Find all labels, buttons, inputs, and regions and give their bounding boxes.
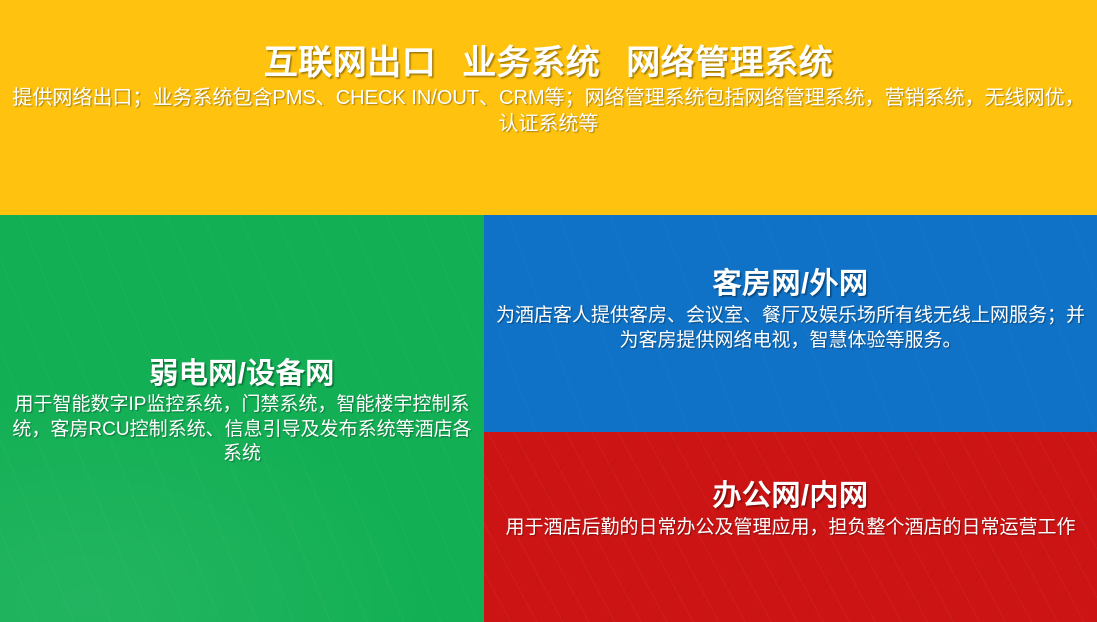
guestroom-network-panel[interactable]: 客房网/外网 为酒店客人提供客房、会议室、餐厅及娱乐场所有线无线上网服务；并为客… xyxy=(484,215,1097,432)
internet-exit-title-part2: 业务系统 xyxy=(462,44,600,82)
weak-current-content: 弱电网/设备网 用于智能数字IP监控系统，门禁系统，智能楼宇控制系统，客房RCU… xyxy=(0,215,484,466)
office-content: 办公网/内网 用于酒店后勤的日常办公及管理应用，担负整个酒店的日常运营工作 xyxy=(484,432,1097,541)
internet-exit-content: 互联网出口业务系统网络管理系统 提供网络出口；业务系统包含PMS、CHECK I… xyxy=(0,0,1097,137)
weak-current-network-panel[interactable]: 弱电网/设备网 用于智能数字IP监控系统，门禁系统，智能楼宇控制系统，客房RCU… xyxy=(0,215,484,622)
internet-exit-title-part3: 网络管理系统 xyxy=(626,44,833,82)
weak-current-title: 弱电网/设备网 xyxy=(4,358,480,390)
office-description: 用于酒店后勤的日常办公及管理应用，担负整个酒店的日常运营工作 xyxy=(488,516,1093,540)
slide-canvas: 互联网出口业务系统网络管理系统 提供网络出口；业务系统包含PMS、CHECK I… xyxy=(0,0,1097,622)
internet-exit-panel[interactable]: 互联网出口业务系统网络管理系统 提供网络出口；业务系统包含PMS、CHECK I… xyxy=(0,0,1097,215)
guestroom-content: 客房网/外网 为酒店客人提供客房、会议室、餐厅及娱乐场所有线无线上网服务；并为客… xyxy=(484,215,1097,353)
internet-exit-description: 提供网络出口；业务系统包含PMS、CHECK IN/OUT、CRM等；网络管理系… xyxy=(4,86,1093,137)
guestroom-description: 为酒店客人提供客房、会议室、餐厅及娱乐场所有线无线上网服务；并为客房提供网络电视… xyxy=(488,304,1093,353)
internet-exit-title: 互联网出口业务系统网络管理系统 xyxy=(4,44,1093,82)
office-title: 办公网/内网 xyxy=(488,480,1093,512)
guestroom-title: 客房网/外网 xyxy=(488,268,1093,300)
office-network-panel[interactable]: 办公网/内网 用于酒店后勤的日常办公及管理应用，担负整个酒店的日常运营工作 xyxy=(484,432,1097,622)
weak-current-description: 用于智能数字IP监控系统，门禁系统，智能楼宇控制系统，客房RCU控制系统、信息引… xyxy=(4,393,480,466)
internet-exit-title-part1: 互联网出口 xyxy=(264,44,437,82)
